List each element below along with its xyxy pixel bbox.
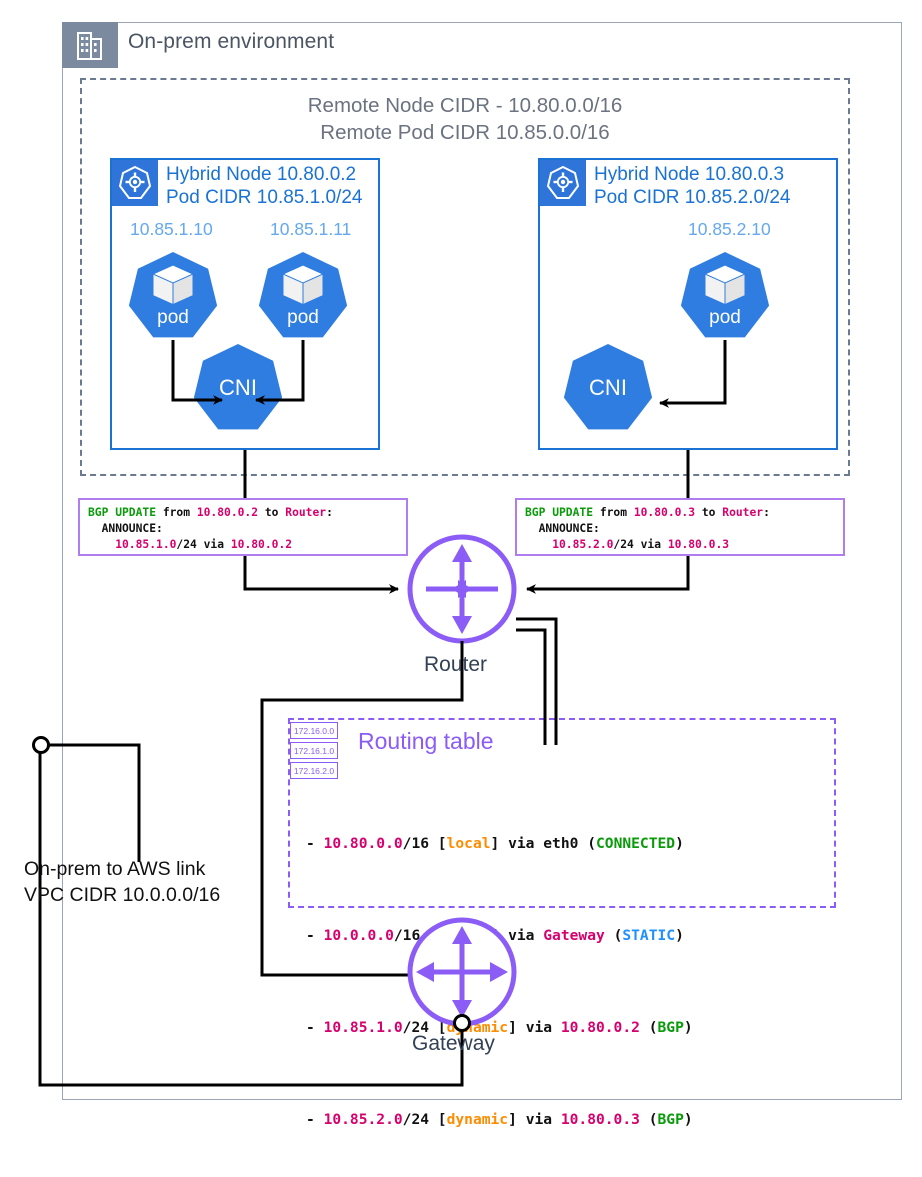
cube-icon (279, 263, 327, 307)
row-proto-open: ( (605, 927, 623, 944)
bgp-route-prefix: 10.85.2.0 (525, 538, 613, 551)
remote-node-cidr-label: Remote Node CIDR - 10.80.0.0/16 (80, 92, 850, 119)
bgp-route-via: via (197, 538, 231, 551)
bgp-announce: ANNOUNCE: (88, 522, 163, 535)
row-nexthop: eth0 (543, 835, 578, 852)
bgp-from-word: from (156, 506, 197, 519)
row-prefix: 10.0.0.0 (324, 927, 394, 944)
hybrid-node-2-title: Hybrid Node 10.80.0.3 (594, 163, 790, 186)
pod-label: pod (680, 307, 770, 329)
row-rb: ] (491, 835, 509, 852)
bgp-source-ip: 10.80.0.2 (197, 506, 258, 519)
bgp-route-nexthop: 10.80.0.3 (668, 538, 729, 551)
bgp-keyword: BGP UPDATE (525, 506, 593, 519)
gateway-label: Gateway (412, 1032, 495, 1056)
link-line-1: On-prem to AWS link (24, 856, 220, 882)
router-label: Router (424, 653, 487, 677)
row-dash: - (306, 1111, 324, 1128)
row-type: static (438, 927, 491, 944)
row-proto: BGP (658, 1019, 684, 1036)
diagram-canvas: On-prem environment Remote Node CIDR - 1… (0, 0, 922, 1124)
link-endpoint-dot (34, 738, 49, 753)
row-prefix: 10.85.1.0 (324, 1019, 403, 1036)
row-proto-close: ) (684, 1111, 693, 1128)
on-prem-title: On-prem environment (128, 30, 334, 54)
row-mask: /24 (403, 1111, 429, 1128)
pod-label: pod (258, 307, 348, 329)
routing-table-row: - 10.80.0.0/16 [local] via eth0 (CONNECT… (306, 832, 826, 855)
routing-table-rows: - 10.80.0.0/16 [local] via eth0 (CONNECT… (306, 786, 826, 1177)
row-nexthop: 10.80.0.3 (561, 1111, 640, 1128)
row-proto-close: ) (675, 927, 684, 944)
pod-node-3[interactable]: pod (680, 252, 770, 340)
row-via: via (526, 1019, 561, 1036)
row-lb: [ (429, 835, 447, 852)
row-mask: /16 (403, 835, 429, 852)
bgp-route-nexthop: 10.80.0.2 (231, 538, 292, 551)
bgp-colon: : (763, 506, 770, 519)
cni-node-2[interactable]: CNI (563, 344, 653, 432)
cni-label: CNI (193, 375, 283, 401)
pod-node-2[interactable]: pod (258, 252, 348, 340)
hybrid-node-1-header: Hybrid Node 10.80.0.2 Pod CIDR 10.85.1.0… (166, 163, 362, 209)
bgp-route-mask: /24 (176, 538, 196, 551)
bgp-update-box-2: BGP UPDATE from 10.80.0.3 to Router: ANN… (515, 498, 845, 556)
building-icon (77, 30, 103, 60)
row-mask: /16 (394, 927, 420, 944)
row-proto-open: ( (640, 1111, 658, 1128)
pod-ip-label-1: 10.85.1.10 (130, 219, 213, 240)
remote-cidr-labels: Remote Node CIDR - 10.80.0.0/16 Remote P… (80, 92, 850, 146)
row-nexthop: 10.80.0.2 (561, 1019, 640, 1036)
row-proto-open: ( (640, 1019, 658, 1036)
row-via: via (526, 1111, 561, 1128)
bgp-update-box-1: BGP UPDATE from 10.80.0.2 to Router: ANN… (78, 498, 408, 556)
bgp-colon: : (326, 506, 333, 519)
routing-table-row: - 10.85.2.0/24 [dynamic] via 10.80.0.3 (… (306, 1108, 826, 1131)
row-dash: - (306, 1019, 324, 1036)
hybrid-node-2-pod-cidr: Pod CIDR 10.85.2.0/24 (594, 186, 790, 209)
cube-icon (701, 263, 749, 307)
kubernetes-icon (540, 160, 586, 206)
row-rb: ] (508, 1111, 526, 1128)
row-lb: [ (429, 1111, 447, 1128)
bgp-announce: ANNOUNCE: (525, 522, 600, 535)
routing-table-chip: 172.16.2.0 (290, 762, 338, 779)
bgp-to-word: to (695, 506, 722, 519)
kubernetes-icon (112, 160, 158, 206)
row-proto: STATIC (622, 927, 675, 944)
row-proto-close: ) (675, 835, 684, 852)
row-via: via (508, 927, 543, 944)
row-dash: - (306, 927, 324, 944)
row-via: via (508, 835, 543, 852)
bgp-route-mask: /24 (613, 538, 633, 551)
routing-table-title: Routing table (358, 728, 494, 755)
row-lb: [ (420, 927, 438, 944)
pod-ip-label-2: 10.85.1.11 (270, 219, 351, 240)
bgp-target: Router (722, 506, 763, 519)
hybrid-node-2-header: Hybrid Node 10.80.0.3 Pod CIDR 10.85.2.0… (594, 163, 790, 209)
routing-table-icon: 172.16.0.0 172.16.1.0 172.16.2.0 (290, 722, 340, 784)
pod-label: pod (128, 307, 218, 329)
row-proto-close: ) (684, 1019, 693, 1036)
row-type: local (447, 835, 491, 852)
link-line-2: VPC CIDR 10.0.0.0/16 (24, 882, 220, 908)
bgp-from-word: from (593, 506, 634, 519)
bgp-source-ip: 10.80.0.3 (634, 506, 695, 519)
bgp-to-word: to (258, 506, 285, 519)
row-proto: CONNECTED (596, 835, 675, 852)
row-prefix: 10.85.2.0 (324, 1111, 403, 1128)
bgp-route-prefix: 10.85.1.0 (88, 538, 176, 551)
routing-table-row: - 10.85.1.0/24 [dynamic] via 10.80.0.2 (… (306, 1016, 826, 1039)
row-proto: BGP (658, 1111, 684, 1128)
cube-icon (149, 263, 197, 307)
routing-table-row: - 10.0.0.0/16 [static] via Gateway (STAT… (306, 924, 826, 947)
routing-table-chip: 172.16.1.0 (290, 742, 338, 759)
cni-label: CNI (563, 375, 653, 401)
row-rb: ] (508, 1019, 526, 1036)
row-type: dynamic (447, 1111, 509, 1128)
row-prefix: 10.80.0.0 (324, 835, 403, 852)
hybrid-node-1-title: Hybrid Node 10.80.0.2 (166, 163, 362, 186)
row-proto-open: ( (578, 835, 596, 852)
row-dash: - (306, 835, 324, 852)
cni-node-1[interactable]: CNI (193, 344, 283, 432)
pod-node-1[interactable]: pod (128, 252, 218, 340)
row-rb: ] (491, 927, 509, 944)
remote-pod-cidr-label: Remote Pod CIDR 10.85.0.0/16 (80, 119, 850, 146)
hybrid-node-1-pod-cidr: Pod CIDR 10.85.1.0/24 (166, 186, 362, 209)
bgp-target: Router (285, 506, 326, 519)
routing-table-chip: 172.16.0.0 (290, 722, 338, 739)
pod-ip-label-3: 10.85.2.10 (688, 219, 771, 240)
bgp-route-via: via (634, 538, 668, 551)
on-prem-titlebar (62, 22, 118, 68)
on-prem-aws-link-label: On-prem to AWS link VPC CIDR 10.0.0.0/16 (24, 856, 220, 908)
row-nexthop: Gateway (543, 927, 605, 944)
bgp-keyword: BGP UPDATE (88, 506, 156, 519)
